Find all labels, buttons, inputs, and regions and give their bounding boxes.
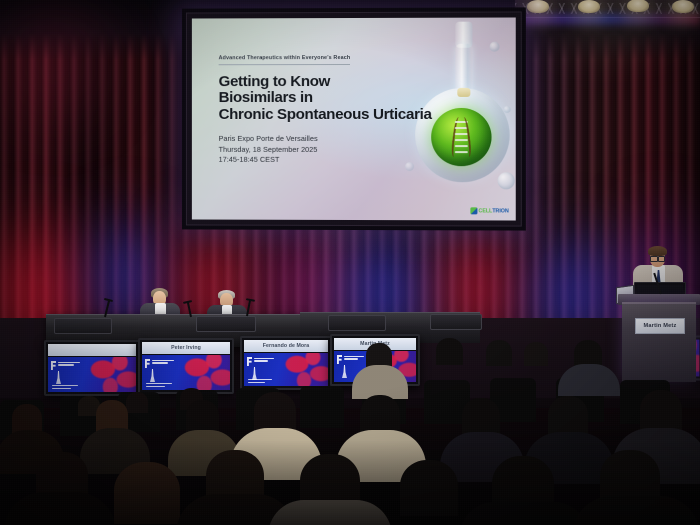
- eiffel-tower-icon-1: [56, 371, 61, 384]
- speaker-glasses-icon: [650, 256, 665, 260]
- celltrion-logo-text-blue: TRION: [492, 208, 508, 214]
- congress-logo-mark-1: [51, 361, 56, 370]
- congress-logo-lines-1: [58, 361, 80, 366]
- audience-head-r3-5: [436, 338, 463, 365]
- eiffel-tower-icon-4: [342, 365, 347, 378]
- lectern: Martin Metz: [622, 302, 696, 382]
- congress-logo-lines-2: [152, 359, 174, 364]
- nameplate-text-fernando-de-mora: Fernando de Mora: [263, 343, 310, 349]
- congress-logo-1: [51, 361, 80, 370]
- monitor-swirl-1: [87, 357, 136, 392]
- audience-head-r3-6: [486, 340, 512, 366]
- slide-date: Thursday, 18 September 2025: [219, 145, 447, 156]
- chair-back-6: [300, 386, 344, 428]
- nameplate-blank-1: [48, 344, 136, 356]
- nameplate-text-peter-irving: Peter Irving: [171, 345, 201, 351]
- slide-text-block: Advanced Therapeutics within Everyone's …: [219, 46, 447, 166]
- audience-head-front-5: [400, 460, 458, 516]
- congress-logo-4: [337, 355, 364, 364]
- audience-head-r2-4: [254, 392, 296, 432]
- celltrion-logo-text-green: CELL: [478, 208, 492, 214]
- projected-slide: Advanced Therapeutics within Everyone's …: [192, 17, 516, 220]
- audience-head-r3-7: [524, 342, 548, 366]
- speaker-hair: [648, 246, 667, 256]
- conference-hall-photo: Advanced Therapeutics within Everyone's …: [0, 0, 700, 525]
- panel-monitor-1: [44, 340, 140, 396]
- congress-logo-2: [145, 359, 174, 368]
- desk-panel-1: [54, 318, 112, 334]
- truss-underglow: [516, 14, 700, 24]
- congress-footer-3: [248, 377, 272, 383]
- celltrion-logo: CELLTRION: [470, 207, 509, 214]
- nameplate-fernando-de-mora: Fernando de Mora: [244, 340, 328, 352]
- audience-head-r2-6: [462, 398, 500, 436]
- audience-head-front-2: [114, 462, 180, 524]
- desk-panel-4: [430, 314, 482, 330]
- desk-panel-2: [196, 316, 256, 332]
- eiffel-tower-icon-2: [150, 369, 155, 382]
- congress-logo-mark-2: [145, 359, 150, 368]
- congress-logo-lines-3: [254, 357, 274, 362]
- nameplate-peter-irving: Peter Irving: [142, 342, 230, 354]
- stage-lamp-4: [672, 0, 694, 13]
- monitor-slide-3: [244, 353, 328, 386]
- audience-head-r2-8: [640, 390, 682, 432]
- audience-head-r2-5: [360, 395, 400, 435]
- stage-lamp-2: [578, 0, 600, 13]
- slide-title-line-2: Biosimilars in: [219, 90, 447, 107]
- panel-monitor-fernando-de-mora: Fernando de Mora: [240, 336, 332, 390]
- congress-logo-mark-3: [247, 357, 252, 366]
- projection-screen: Advanced Therapeutics within Everyone's …: [182, 7, 526, 230]
- monitor-slide-2: [142, 355, 230, 390]
- nameplate-text-1: [91, 347, 93, 353]
- desk-panel-3: [328, 315, 386, 331]
- stage-lamp-1: [527, 0, 549, 13]
- audience-shoulders-front-4: [268, 500, 392, 525]
- monitor-slide-1: [48, 357, 136, 392]
- stage-lamp-3: [627, 0, 649, 12]
- audience-shoulders-front-6: [460, 502, 588, 525]
- congress-logo-3: [247, 357, 274, 366]
- congress-footer-1: [52, 383, 78, 389]
- congress-footer-2: [146, 381, 172, 387]
- slide-venue: Paris Expo Porte de Versailles: [219, 134, 447, 145]
- audience-head-r2-7: [548, 396, 588, 436]
- celltrion-logo-mark: [470, 207, 477, 214]
- lectern-nameplate-text: Martin Metz: [644, 323, 677, 329]
- audience-head-r2-3: [186, 400, 219, 433]
- slide-time: 17:45-18:45 CEST: [219, 155, 447, 166]
- audience-shoulders-r3-4: [352, 365, 408, 399]
- congress-logo-lines-4: [344, 355, 364, 360]
- slide-tagline: Advanced Therapeutics within Everyone's …: [219, 55, 351, 65]
- congress-logo-mark-4: [337, 355, 342, 364]
- panel-monitor-peter-irving: Peter Irving: [138, 338, 234, 394]
- lectern-nameplate: Martin Metz: [635, 318, 685, 334]
- celltrion-logo-text: CELLTRION: [478, 208, 508, 214]
- monitor-swirl-2: [181, 355, 230, 390]
- monitor-swirl-3: [282, 353, 328, 386]
- audience-head-r3-2: [126, 392, 148, 413]
- slide-title-line-3: Chronic Spontaneous Urticaria: [219, 107, 447, 124]
- slide-title-line-1: Getting to Know: [219, 73, 447, 90]
